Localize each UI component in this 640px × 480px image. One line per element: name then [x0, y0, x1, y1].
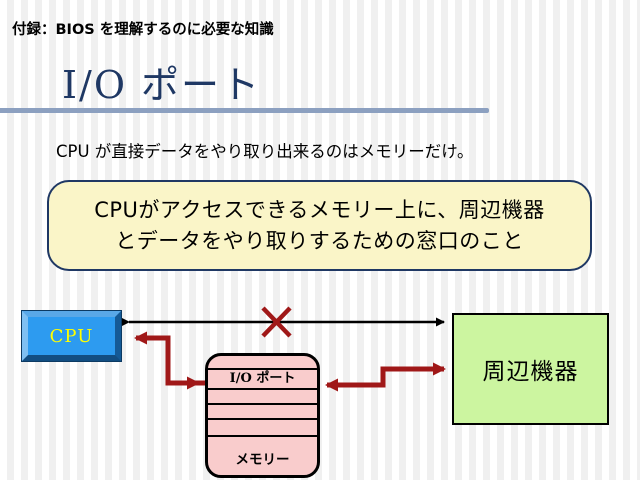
title-underline-rule: [0, 108, 489, 113]
cpu-box-inner: CPU: [28, 317, 115, 355]
memory-row-divider: [208, 435, 317, 437]
cpu-box: CPU: [22, 311, 121, 361]
peripheral-to-memory-arrow: [327, 369, 383, 385]
memory-box: I/O ポート メモリー: [205, 353, 320, 478]
peripheral-box: 周辺機器: [452, 313, 609, 425]
page-title: I/O ポート: [62, 66, 261, 104]
cpu-label: CPU: [50, 326, 94, 347]
cross-mark-icon: [263, 308, 290, 336]
memory-row-divider: [208, 388, 317, 390]
memory-to-peripheral-arrow: [383, 369, 444, 385]
slide-canvas: 付録：BIOS を理解するのに必要な知識 I/O ポート CPU が直接データを…: [0, 0, 640, 480]
memory-row-divider: [208, 403, 317, 405]
definition-callout-box: CPUがアクセスできるメモリー上に、周辺機器 とデータをやり取りするための窓口の…: [47, 180, 592, 271]
callout-line-1: CPUがアクセスできるメモリー上に、周辺機器: [94, 195, 545, 225]
memory-row-divider: [208, 418, 317, 420]
callout-line-2: とデータをやり取りするための窓口のこと: [115, 226, 524, 256]
memory-to-cpu-arrow: [136, 338, 205, 383]
peripheral-label: 周辺機器: [483, 352, 579, 386]
lead-text: CPU が直接データをやり取り出来るのはメモリーだけ。: [56, 138, 473, 162]
io-port-label: I/O ポート: [208, 367, 317, 386]
cpu-to-memory-arrow: [168, 338, 198, 383]
slide-header: 付録：BIOS を理解するのに必要な知識: [12, 18, 274, 39]
memory-label: メモリー: [208, 448, 317, 468]
